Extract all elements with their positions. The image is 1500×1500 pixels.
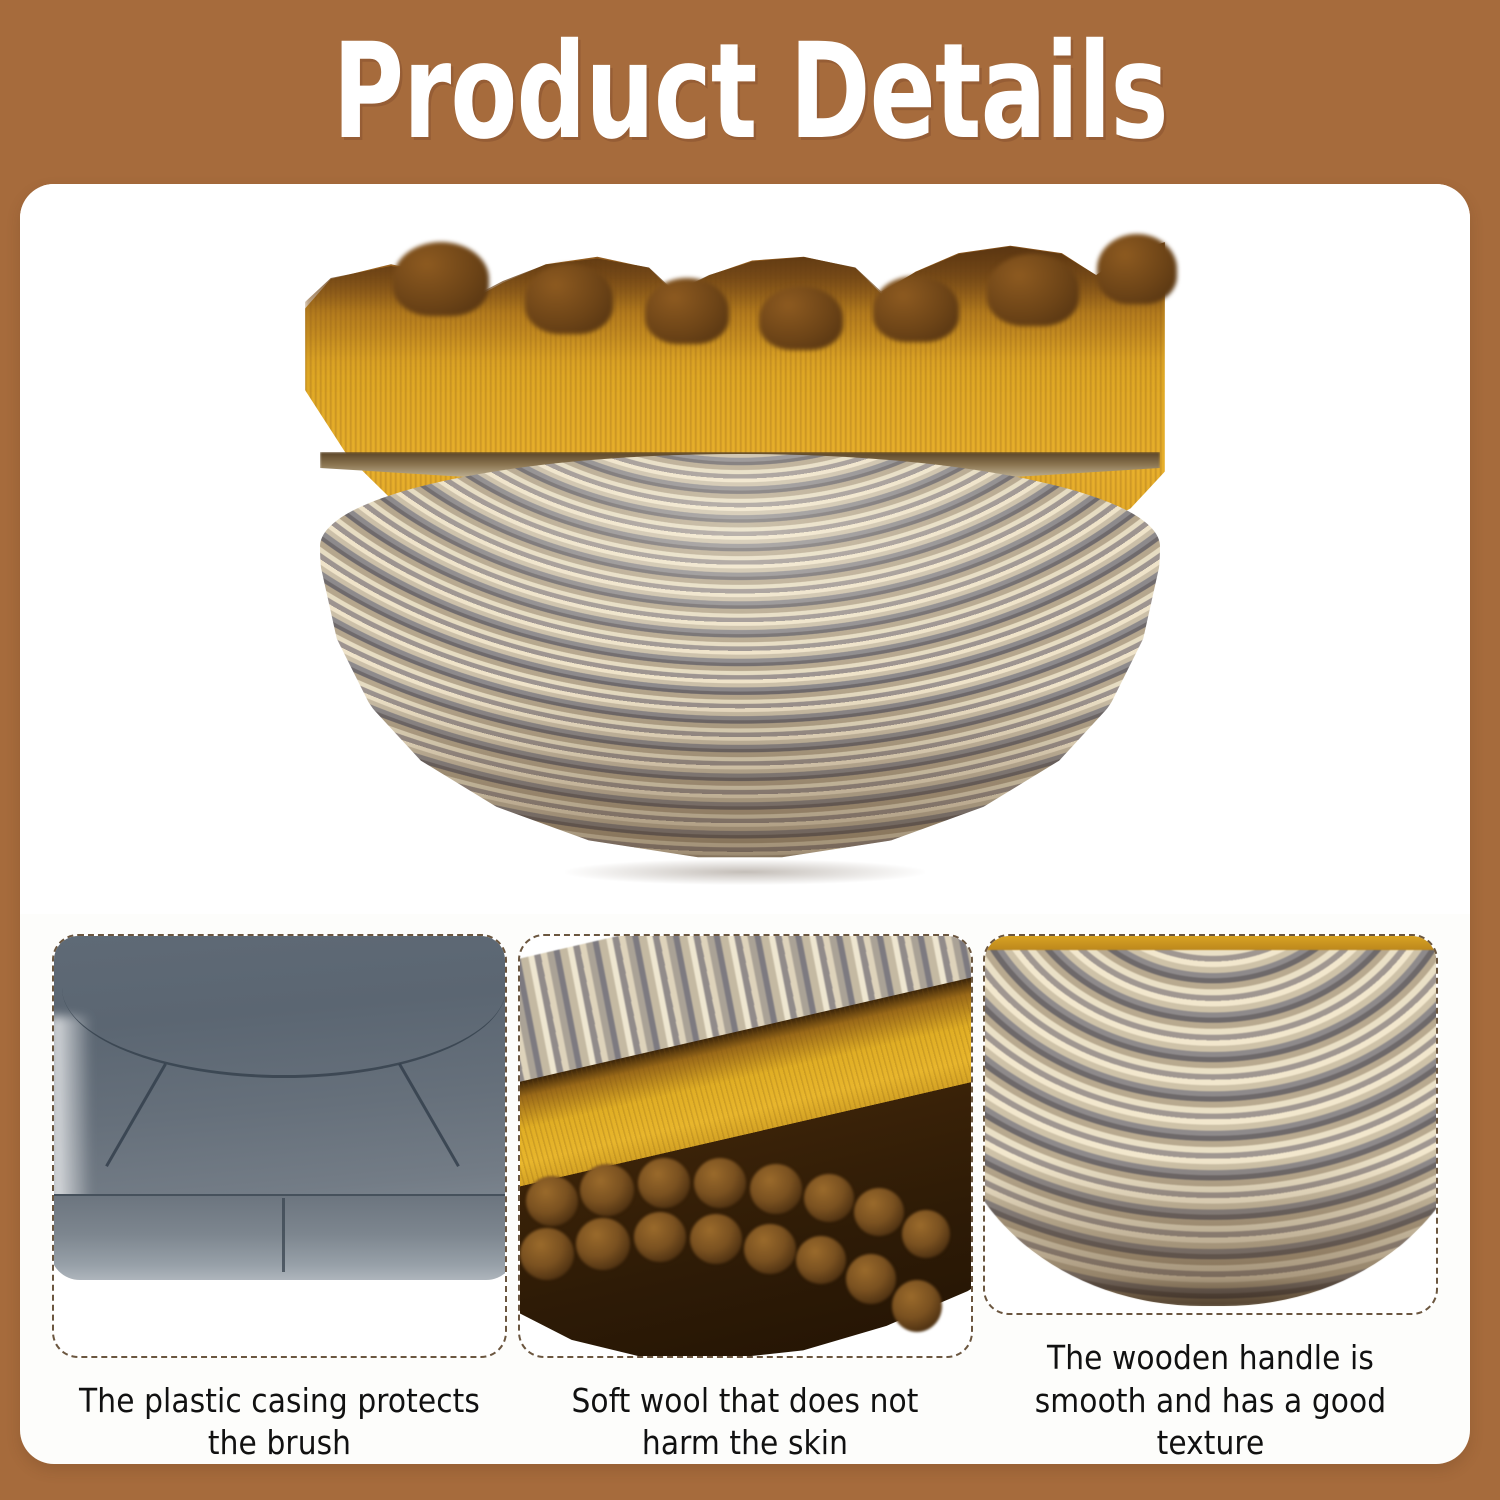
thumbnail-caption: The plastic casing protects the brush [70, 1380, 490, 1464]
wool-tuft [854, 1188, 904, 1236]
content-card: The plastic casing protects the brush [20, 184, 1470, 1464]
wool-tuft [638, 1158, 690, 1208]
product-details-page: Product Details [0, 0, 1500, 1500]
wool-tuft [744, 1224, 796, 1274]
hero-drop-shadow [565, 859, 925, 885]
thumbnail-plastic-casing: The plastic casing protects the brush [52, 934, 507, 1464]
title-bar: Product Details [0, 0, 1500, 183]
page-title: Product Details [332, 26, 1167, 158]
wool-tuft [576, 1218, 630, 1270]
bristle-knob [1097, 234, 1177, 304]
wooden-handle-photo [985, 936, 1436, 1313]
wool-tuft [634, 1212, 686, 1262]
bristle-knob [873, 276, 959, 342]
wool-tuft [804, 1174, 854, 1222]
wooden-handle-shading [320, 454, 1160, 874]
thumbnail-wooden-handle: The wooden handle is smooth and has a go… [983, 934, 1438, 1464]
plastic-base [52, 1194, 507, 1280]
bristle-knob [525, 264, 613, 334]
wool-tuft [846, 1254, 896, 1304]
wool-tuft [750, 1164, 802, 1214]
thumbnail-frame[interactable] [52, 934, 507, 1358]
thumbnail-frame[interactable] [518, 934, 973, 1358]
soft-wool-photo [520, 936, 971, 1356]
bristle-knob [645, 278, 729, 344]
plastic-casing-photo [54, 936, 505, 1356]
hero-stage [275, 204, 1195, 904]
thumbnail-caption: The wooden handle is smooth and has a go… [1001, 1337, 1421, 1464]
wool-tuft [520, 1228, 574, 1280]
thumbnail-soft-wool: Soft wool that does not harm the skin [518, 934, 973, 1464]
bristle-knob [759, 286, 843, 350]
thumbnail-frame[interactable] [983, 934, 1438, 1315]
wool-tuft [526, 1176, 578, 1226]
wool-tuft [694, 1158, 746, 1208]
wool-tuft [796, 1236, 846, 1284]
hero-product-image [20, 184, 1470, 914]
bristle-knob [987, 254, 1079, 326]
plastic-base-seam [282, 1198, 285, 1272]
wool-tuft [690, 1214, 742, 1264]
handle-photo-shading [983, 950, 1438, 1306]
wool-tuft [892, 1280, 942, 1332]
thumbnail-row: The plastic casing protects the brush [20, 934, 1470, 1464]
wool-tuft [902, 1210, 950, 1258]
thumbnail-caption: Soft wool that does not harm the skin [535, 1380, 955, 1464]
bristle-knob [393, 242, 489, 316]
wool-tuft [580, 1164, 634, 1216]
